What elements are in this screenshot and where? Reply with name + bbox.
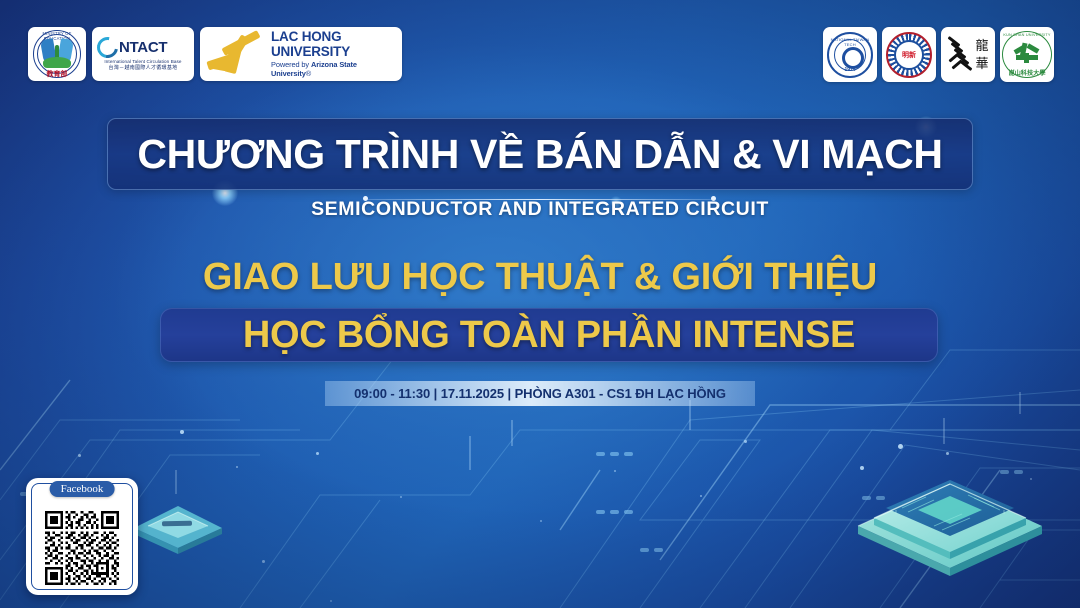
lunghwa-char-2: 華 [975, 56, 988, 71]
partner-logos-right: NATIONAL TAIWAN TECH 1974 明新 [823, 27, 1054, 82]
taiwan-tech-year: 1974 [829, 67, 871, 73]
headline-gold-line-2: HỌC BỔNG TOÀN PHẦN INTENSE [243, 314, 855, 357]
intact-subtitle-cn: 台灣－越南國際人才循環基地 [97, 64, 189, 71]
lunghwa-char-1: 龍 [975, 38, 988, 53]
poster-canvas: MINISTRY OF EDUCATION 教育部 NTACT Internat… [0, 0, 1080, 608]
lunghwa-chinese: 龍 華 [975, 37, 988, 73]
lhu-powered-by: Powered by Arizona State University® [271, 60, 397, 78]
logo-ministry-of-education-taiwan: MINISTRY OF EDUCATION 教育部 [28, 27, 86, 81]
lhu-bird-icon [205, 33, 267, 75]
ming-chi-glyph: 明新 [902, 50, 916, 60]
logo-kun-shan-university: KUN SHAN UNIVERSITY 崑山科技大學 [1000, 27, 1054, 82]
subtitle-english: SEMICONDUCTOR AND INTEGRATED CIRCUIT [0, 198, 1080, 221]
headline-gold-line-1: GIAO LƯU HỌC THUẬT & GIỚI THIỆU [0, 256, 1080, 299]
qr-badge-label: Facebook [50, 481, 115, 497]
ksu-chinese: 崑山科技大學 [1002, 68, 1052, 77]
ksu-mark-icon [1014, 43, 1040, 63]
scholarship-highlight-box: HỌC BỔNG TOÀN PHẦN INTENSE [160, 308, 938, 362]
lhu-powered-prefix: Powered by [271, 60, 311, 69]
intact-swirl-icon [93, 33, 122, 62]
moe-chinese-text: 教育部 [33, 69, 81, 79]
small-chip-graphic [128, 494, 228, 556]
lunghwa-mark-icon [947, 38, 973, 72]
logo-intact: NTACT International Talent Circulation B… [92, 27, 194, 81]
qr-code-image[interactable] [40, 511, 124, 585]
partner-logos-left: MINISTRY OF EDUCATION 教育部 NTACT Internat… [28, 27, 402, 81]
ksu-arc-text: KUN SHAN UNIVERSITY [1002, 33, 1052, 37]
event-details-text: 09:00 - 11:30 | 17.11.2025 | PHÒNG A301 … [354, 386, 726, 401]
intact-wordmark: NTACT [119, 39, 167, 56]
page-title: CHƯƠNG TRÌNH VỀ BÁN DẪN & VI MẠCH [137, 131, 942, 178]
processor-chip-graphic [842, 440, 1058, 580]
event-details-bar: 09:00 - 11:30 | 17.11.2025 | PHÒNG A301 … [325, 381, 755, 406]
lhu-name: LAC HONG UNIVERSITY [271, 30, 397, 58]
lhu-powered-mark: ® [306, 69, 311, 78]
taiwan-tech-arc-text: NATIONAL TAIWAN TECH [829, 37, 871, 47]
logo-taiwan-tech: NATIONAL TAIWAN TECH 1974 [823, 27, 877, 82]
logo-lac-hong-university: LAC HONG UNIVERSITY Powered by Arizona S… [200, 27, 402, 81]
qr-code-card[interactable]: Facebook [26, 478, 138, 595]
main-title-box: CHƯƠNG TRÌNH VỀ BÁN DẪN & VI MẠCH [107, 118, 973, 190]
logo-lunghwa-university: 龍 華 [941, 27, 995, 82]
moe-arc-text: MINISTRY OF EDUCATION [33, 31, 81, 41]
logo-ming-chi-university: 明新 [882, 27, 936, 82]
